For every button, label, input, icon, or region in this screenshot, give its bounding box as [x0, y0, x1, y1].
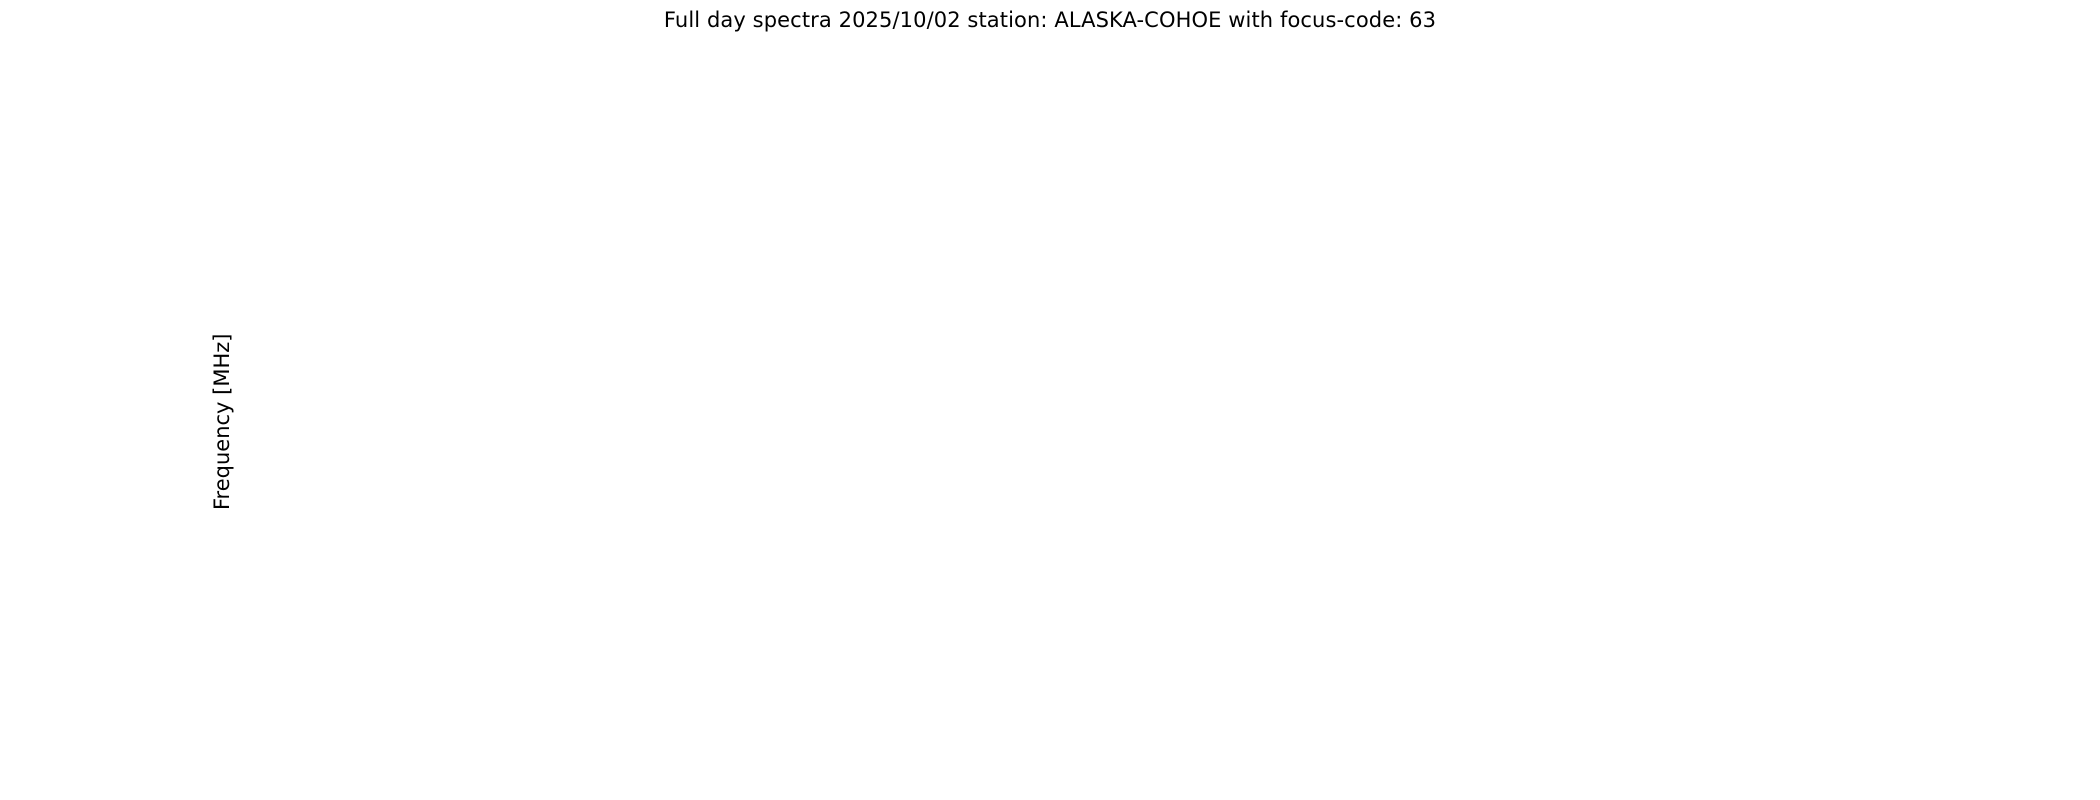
figure-title: Full day spectra 2025/10/02 station: ALA…: [0, 8, 2100, 32]
spectrogram-figure: Full day spectra 2025/10/02 station: ALA…: [0, 0, 2100, 800]
y-axis-label: Frequency [MHz]: [210, 334, 234, 510]
